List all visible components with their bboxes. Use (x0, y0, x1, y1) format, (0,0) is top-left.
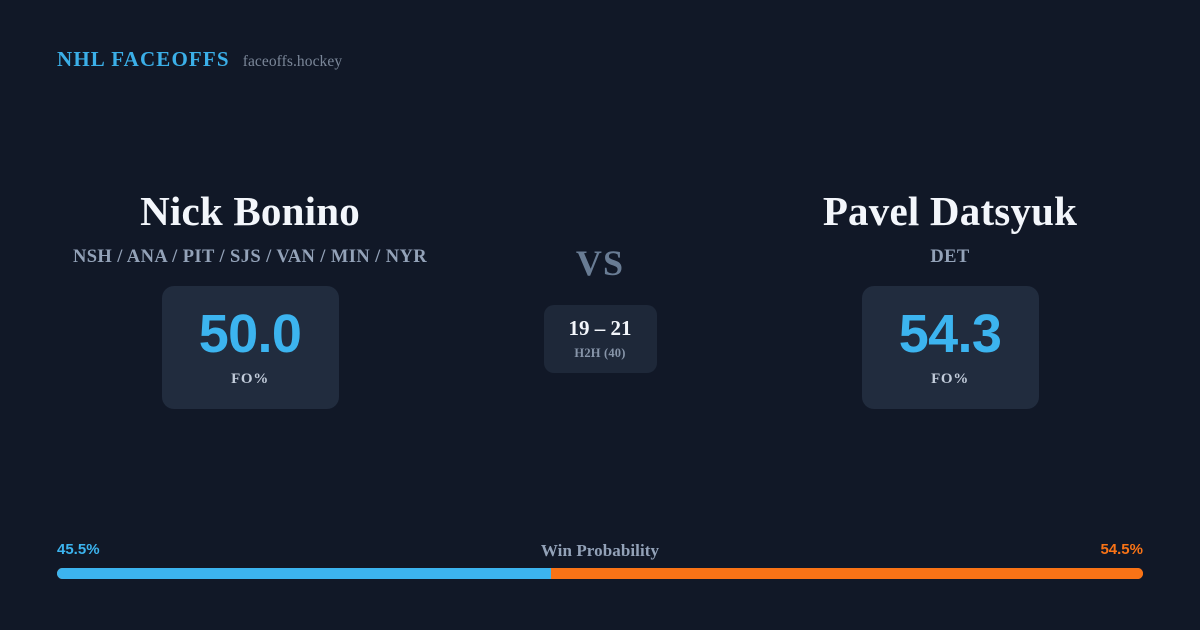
win-probability-right-value: 54.5% (1100, 541, 1143, 558)
stat-label-right: FO% (931, 371, 969, 388)
player-name-right: Pavel Datsyuk (823, 190, 1077, 233)
stat-card-right: 54.3 FO% (862, 286, 1039, 409)
player-card-right[interactable]: Pavel Datsyuk DET 54.3 FO% (700, 190, 1200, 409)
matchup-container: Nick Bonino NSH / ANA / PIT / SJS / VAN … (0, 190, 1200, 409)
brand-logo-text[interactable]: NHL FACEOFFS (57, 47, 230, 72)
win-probability-labels: 45.5% Win Probability 54.5% (57, 541, 1143, 563)
head-to-head-label: H2H (40) (574, 346, 625, 361)
site-header: NHL FACEOFFS faceoffs.hockey (57, 47, 342, 72)
player-teams-right: DET (930, 247, 969, 268)
player-name-left: Nick Bonino (140, 190, 360, 233)
stat-card-left: 50.0 FO% (162, 286, 339, 409)
win-probability-title: Win Probability (57, 541, 1143, 561)
win-probability-bar-right-fill (551, 568, 1143, 579)
player-card-left[interactable]: Nick Bonino NSH / ANA / PIT / SJS / VAN … (0, 190, 500, 409)
brand-domain-text: faceoffs.hockey (243, 53, 342, 71)
player-teams-left: NSH / ANA / PIT / SJS / VAN / MIN / NYR (73, 247, 427, 268)
win-probability-bar-left-fill (57, 568, 551, 579)
versus-column: VS 19 – 21 H2H (40) (500, 190, 700, 373)
head-to-head-card: 19 – 21 H2H (40) (544, 305, 657, 373)
stat-label-left: FO% (231, 371, 269, 388)
win-probability-section: 45.5% Win Probability 54.5% (57, 541, 1143, 579)
stat-value-right: 54.3 (899, 307, 1002, 361)
versus-label: VS (576, 245, 624, 281)
win-probability-bar (57, 568, 1143, 579)
stat-value-left: 50.0 (199, 307, 302, 361)
head-to-head-score: 19 – 21 (569, 318, 632, 339)
